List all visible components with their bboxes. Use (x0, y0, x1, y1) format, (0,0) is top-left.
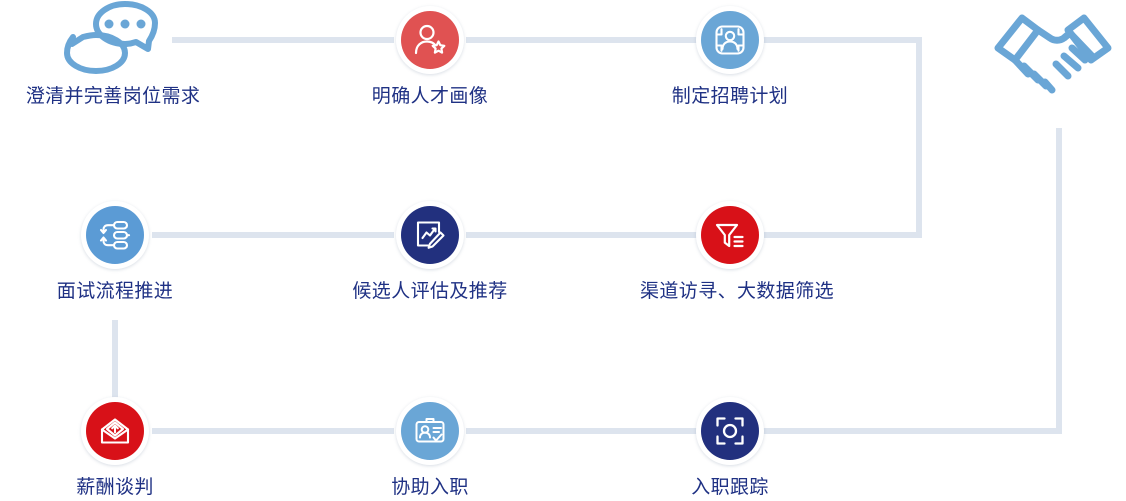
funnel-filter-icon (713, 218, 747, 252)
step-node-9[interactable]: 入职跟踪 (640, 397, 820, 500)
person-star-icon (413, 23, 447, 57)
step-node-1[interactable]: 澄清并完善岗位需求 (23, 2, 203, 109)
step-label-6: 面试流程推进 (25, 280, 205, 304)
step-circle-9 (701, 402, 759, 460)
step-circle-8 (401, 402, 459, 460)
envelope-arrow-up-icon (98, 414, 132, 448)
recruitment-process-diagram: 澄清并完善岗位需求 明确人才画像 (0, 0, 1126, 501)
connector-right-up-to-handshake (1056, 128, 1062, 434)
step-node-8[interactable]: 协助入职 (340, 397, 520, 500)
step-circle-7 (86, 402, 144, 460)
step-circle-3 (701, 11, 759, 69)
step-circle-halo (396, 397, 464, 465)
step-circle-5 (401, 206, 459, 264)
step-circle-halo (696, 397, 764, 465)
step-circle-2 (401, 11, 459, 69)
clipboard-pencil-icon (413, 218, 447, 252)
step-circle-halo (396, 6, 464, 74)
step-node-6[interactable]: 面试流程推进 (25, 201, 205, 304)
id-badge-check-icon (413, 414, 447, 448)
workflow-process-icon (98, 218, 132, 252)
speech-bubbles-icon (63, 2, 163, 74)
step-label-3: 制定招聘计划 (640, 85, 820, 109)
step-label-4: 渠道访寻、大数据筛选 (640, 280, 820, 304)
step-circle-halo (81, 201, 149, 269)
step-label-9: 入职跟踪 (640, 476, 820, 500)
person-frame-icon (713, 23, 747, 57)
step-label-5: 候选人评估及推荐 (340, 280, 520, 304)
step-circle-4 (701, 206, 759, 264)
step-circle-halo (396, 201, 464, 269)
step-label-2: 明确人才画像 (340, 85, 520, 109)
step-circle-halo (81, 397, 149, 465)
handshake-icon (988, 4, 1118, 102)
step-node-2[interactable]: 明确人才画像 (340, 6, 520, 109)
step-node-5[interactable]: 候选人评估及推荐 (340, 201, 520, 304)
connector-right-down-row2 (916, 37, 922, 238)
step-circle-halo (696, 201, 764, 269)
step-circle-6 (86, 206, 144, 264)
step-node-7[interactable]: 薪酬谈判 (25, 397, 205, 500)
step-label-7: 薪酬谈判 (25, 476, 205, 500)
step-circle-halo (696, 6, 764, 74)
step-node-4[interactable]: 渠道访寻、大数据筛选 (640, 201, 820, 304)
step-node-3[interactable]: 制定招聘计划 (640, 6, 820, 109)
step-label-8: 协助入职 (340, 476, 520, 500)
focus-scan-icon (713, 414, 747, 448)
step-label-1: 澄清并完善岗位需求 (23, 85, 203, 109)
